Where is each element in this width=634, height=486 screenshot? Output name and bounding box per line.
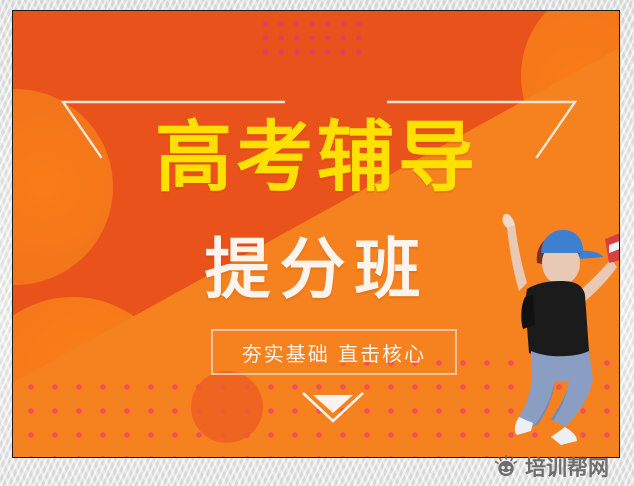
headline-primary: 高考辅导 xyxy=(13,111,620,207)
promo-banner: 高考辅导 提分班 夯实基础 直击核心 xyxy=(12,10,620,458)
chevron-down-arrow-icon xyxy=(301,389,365,425)
page-background: 高考辅导 提分班 夯实基础 直击核心 xyxy=(0,0,634,486)
subtitle-text: 夯实基础 直击核心 xyxy=(242,338,426,367)
smiley-sun-icon xyxy=(494,455,518,479)
dot-pattern-top xyxy=(256,15,366,63)
watermark-text: 培训帮网 xyxy=(525,452,609,482)
watermark: 培训帮网 xyxy=(494,452,609,482)
subtitle-box: 夯实基础 直击核心 xyxy=(211,329,457,375)
jumping-student-illustration xyxy=(485,201,620,458)
decorative-circle-center xyxy=(191,371,263,443)
